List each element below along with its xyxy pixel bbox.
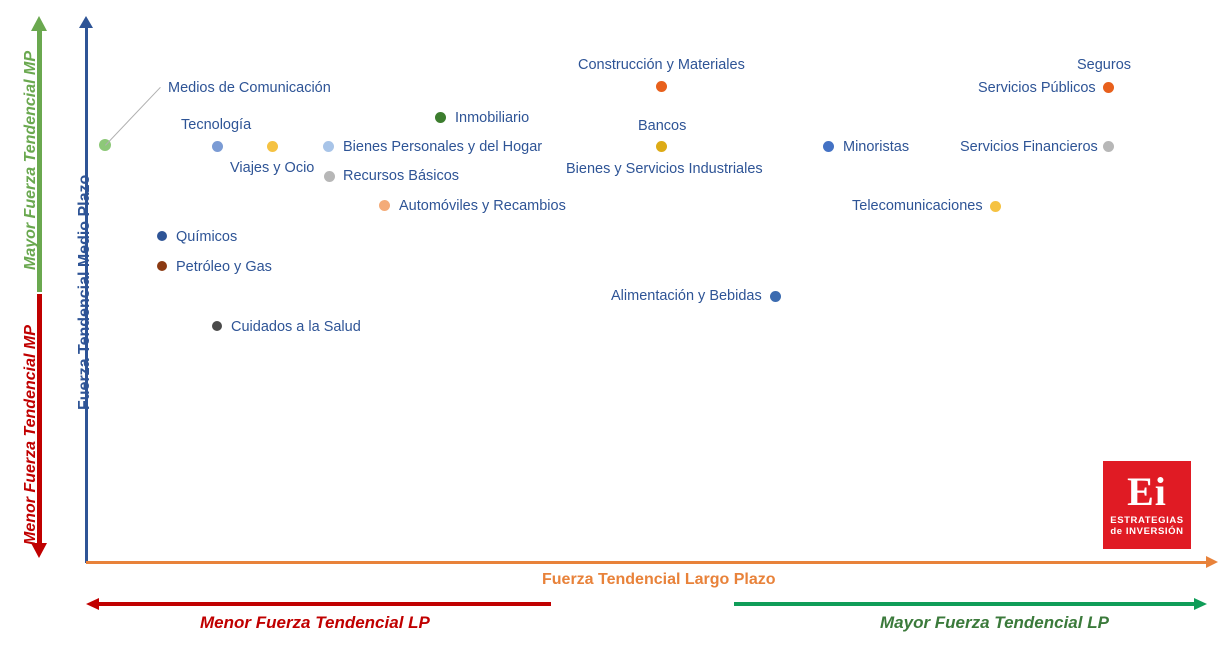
data-point-marker: [324, 171, 335, 182]
data-point-marker: [379, 200, 390, 211]
logo-line-2: de INVERSIÓN: [1110, 526, 1183, 537]
data-point-marker: [212, 141, 223, 152]
label-leader-line: [105, 87, 161, 146]
data-point-label: Viajes y Ocio: [230, 160, 314, 176]
data-point-label: Construcción y Materiales: [578, 57, 745, 73]
mayor-lp-arrowhead: [1194, 598, 1207, 610]
data-point-label: Automóviles y Recambios: [399, 198, 566, 214]
data-point-label: Servicios Públicos: [978, 80, 1096, 96]
data-point-label: Alimentación y Bebidas: [611, 288, 762, 304]
data-point-label: Recursos Básicos: [343, 168, 459, 184]
data-point-label: Cuidados a la Salud: [231, 319, 361, 335]
logo-mark: Ei: [1127, 473, 1167, 511]
estrategias-de-inversion-logo: Ei ESTRATEGIAS de INVERSIÓN: [1103, 461, 1191, 549]
data-point-label: Bienes y Servicios Industriales: [566, 161, 763, 177]
data-point-label: Minoristas: [843, 139, 909, 155]
data-point-marker: [656, 81, 667, 92]
mayor-lp-arrow: [734, 602, 1195, 606]
data-point-marker: [157, 231, 167, 241]
y-axis-title: Fuerza Tendencial Medio Plazo: [76, 175, 94, 410]
data-point-label: Medios de Comunicación: [168, 80, 331, 96]
x-axis-right-label: Mayor Fuerza Tendencial LP: [880, 613, 1109, 633]
x-axis-arrowhead: [1206, 556, 1218, 568]
data-point-label: Servicios Financieros: [960, 139, 1098, 155]
y-axis-arrowhead: [79, 16, 93, 28]
data-point-label: Inmobiliario: [455, 110, 529, 126]
data-point-marker: [990, 201, 1001, 212]
data-point-label: Petróleo y Gas: [176, 259, 272, 275]
data-point-marker: [157, 261, 167, 271]
logo-line-1: ESTRATEGIAS: [1110, 515, 1183, 526]
data-point-marker: [435, 112, 446, 123]
data-point-marker: [1103, 82, 1114, 93]
data-point-label: Químicos: [176, 229, 237, 245]
data-point-label: Telecomunicaciones: [852, 198, 983, 214]
menor-lp-arrowhead: [86, 598, 99, 610]
data-point-marker: [656, 141, 667, 152]
scatter-chart: Mayor Fuerza Tendencial MP Menor Fuerza …: [0, 0, 1224, 649]
x-axis-line: [86, 561, 1212, 564]
data-point-marker: [770, 291, 781, 302]
y-axis-upper-label: Mayor Fuerza Tendencial MP: [22, 51, 40, 270]
data-point-marker: [823, 141, 834, 152]
data-point-marker: [1103, 141, 1114, 152]
data-point-label: Seguros: [1077, 57, 1131, 73]
menor-mp-arrowhead: [31, 543, 47, 558]
data-point-label: Bienes Personales y del Hogar: [343, 139, 542, 155]
mayor-mp-arrowhead: [31, 16, 47, 31]
data-point-label: Bancos: [638, 118, 686, 134]
x-axis-title: Fuerza Tendencial Largo Plazo: [542, 571, 776, 589]
data-point-marker: [323, 141, 334, 152]
y-axis-lower-label: Menor Fuerza Tendencial MP: [22, 325, 40, 545]
data-point-marker: [267, 141, 278, 152]
data-point-label: Tecnología: [181, 117, 251, 133]
menor-lp-arrow: [98, 602, 551, 606]
data-point-marker: [212, 321, 222, 331]
x-axis-left-label: Menor Fuerza Tendencial LP: [200, 613, 430, 633]
